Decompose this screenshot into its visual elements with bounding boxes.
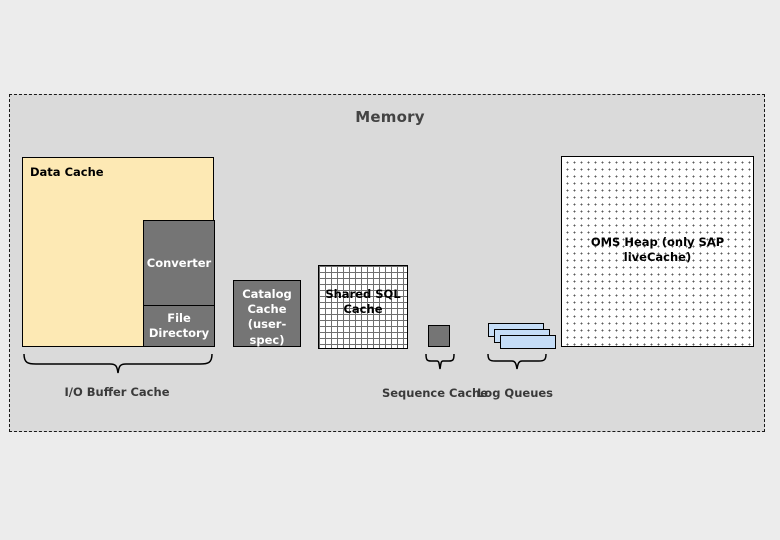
diagram-canvas: Memory Data Cache Converter File Directo… [0,0,780,540]
sequence-cache-box[interactable] [428,325,450,347]
io-buffer-cache-brace [22,352,214,376]
log-queues-brace [486,352,548,374]
log-queue-sheet[interactable] [500,335,556,349]
log-queues-caption: Log Queues [470,386,560,400]
memory-region-title: Memory [0,108,780,126]
converter-label: Converter [143,256,215,271]
oms-heap-label: OMS Heap (only SAP liveCache) [561,235,754,265]
io-buffer-cache-caption: I/O Buffer Cache [22,385,212,399]
catalog-cache-label: Catalog Cache (user-spec) [233,287,301,348]
sequence-cache-brace [424,352,456,374]
file-directory-label: File Directory [136,311,222,341]
shared-sql-cache-label: Shared SQL Cache [313,287,413,317]
data-cache-label: Data Cache [30,165,104,180]
